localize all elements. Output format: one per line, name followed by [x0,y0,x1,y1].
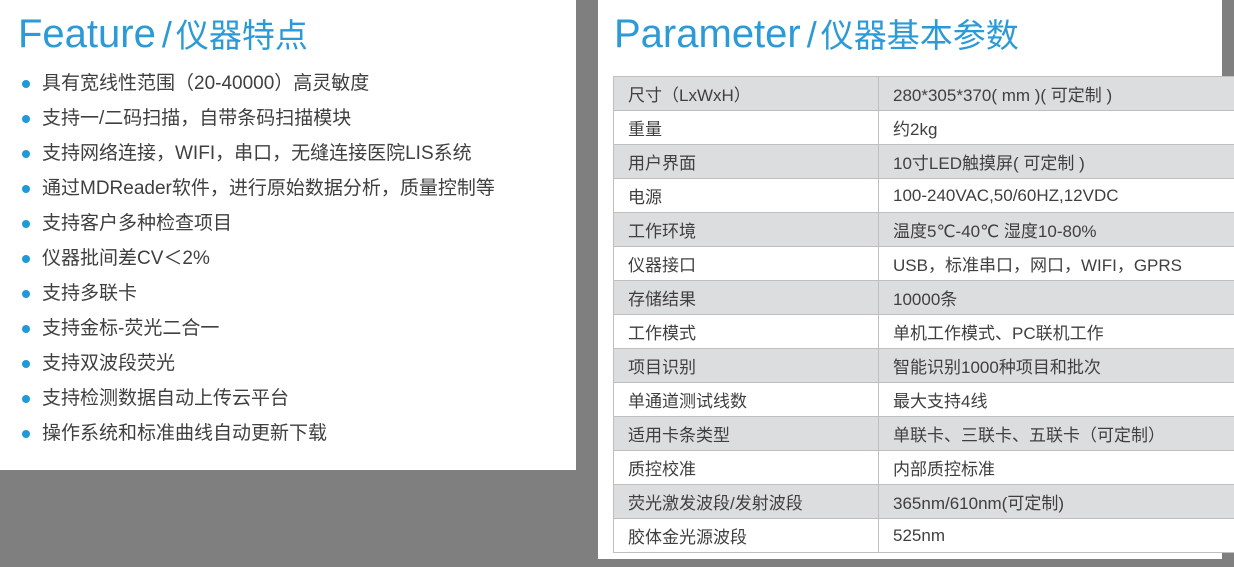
feature-list: 具有宽线性范围（20-40000）高灵敏度 支持一/二码扫描，自带条码扫描模块 … [0,66,576,451]
list-item: 支持一/二码扫描，自带条码扫描模块 [18,101,576,136]
spec-name: 工作模式 [614,315,879,349]
spec-name: 适用卡条类型 [614,417,879,451]
table-row: 电源 100-240VAC,50/60HZ,12VDC [614,179,1234,213]
feature-panel-title: Feature/仪器特点 [0,10,576,58]
spec-name: 质控校准 [614,451,879,485]
spec-name: 尺寸（LxWxH） [614,77,879,111]
spec-value: 100-240VAC,50/60HZ,12VDC [879,179,1234,213]
list-item: 仪器批间差CV＜2% [18,241,576,276]
spec-value: 智能识别1000种项目和批次 [879,349,1234,383]
bullet-icon [22,220,30,228]
bullet-icon [22,395,30,403]
feature-title-en: Feature [18,12,156,56]
spec-value: 365nm/610nm(可定制) [879,485,1234,519]
table-row: 项目识别 智能识别1000种项目和批次 [614,349,1234,383]
spec-name: 胶体金光源波段 [614,519,879,553]
list-item: 支持客户多种检查项目 [18,206,576,241]
parameter-panel: Parameter/仪器基本参数 尺寸（LxWxH） 280*305*370( … [598,0,1222,559]
table-row: 重量 约2kg [614,111,1234,145]
spec-name: 电源 [614,179,879,213]
spec-value: 10寸LED触摸屏( 可定制 ) [879,145,1234,179]
table-row: 存储结果 10000条 [614,281,1234,315]
specification-table: 尺寸（LxWxH） 280*305*370( mm )( 可定制 ) 重量 约2… [613,76,1234,553]
spec-value: USB，标准串口，网口，WIFI，GPRS [879,247,1234,281]
feature-item-text: 通过MDReader软件，进行原始数据分析，质量控制等 [42,178,495,199]
bullet-icon [22,430,30,438]
table-row: 工作模式 单机工作模式、PC联机工作 [614,315,1234,349]
table-row: 用户界面 10寸LED触摸屏( 可定制 ) [614,145,1234,179]
feature-item-text: 支持一/二码扫描，自带条码扫描模块 [42,108,351,129]
feature-item-text: 操作系统和标准曲线自动更新下载 [42,423,327,444]
spec-value: 约2kg [879,111,1234,145]
feature-panel: Feature/仪器特点 具有宽线性范围（20-40000）高灵敏度 支持一/二… [0,0,576,470]
spec-name: 单通道测试线数 [614,383,879,417]
list-item: 操作系统和标准曲线自动更新下载 [18,416,576,451]
spec-value: 单机工作模式、PC联机工作 [879,315,1234,349]
spec-value: 280*305*370( mm )( 可定制 ) [879,77,1234,111]
table-row: 质控校准 内部质控标准 [614,451,1234,485]
feature-item-text: 仪器批间差CV＜2% [42,248,210,269]
parameter-panel-title: Parameter/仪器基本参数 [598,10,1222,58]
spec-value: 最大支持4线 [879,383,1234,417]
feature-item-text: 支持多联卡 [42,283,137,304]
list-item: 支持检测数据自动上传云平台 [18,381,576,416]
table-row: 仪器接口 USB，标准串口，网口，WIFI，GPRS [614,247,1234,281]
feature-item-text: 支持金标-荧光二合一 [42,318,219,339]
spec-name: 用户界面 [614,145,879,179]
feature-item-text: 支持双波段荧光 [42,353,175,374]
list-item: 具有宽线性范围（20-40000）高灵敏度 [18,66,576,101]
parameter-title-separator: / [801,14,821,55]
bullet-icon [22,290,30,298]
feature-item-text: 具有宽线性范围（20-40000）高灵敏度 [42,73,369,94]
parameter-title-en: Parameter [614,12,801,56]
spec-name: 仪器接口 [614,247,879,281]
list-item: 支持多联卡 [18,276,576,311]
bullet-icon [22,150,30,158]
spec-value: 内部质控标准 [879,451,1234,485]
spec-value: 10000条 [879,281,1234,315]
table-row: 荧光激发波段/发射波段 365nm/610nm(可定制) [614,485,1234,519]
bullet-icon [22,325,30,333]
parameter-title-cn: 仪器基本参数 [821,17,1019,54]
spec-value: 525nm [879,519,1234,553]
spec-name: 工作环境 [614,213,879,247]
table-row: 工作环境 温度5℃-40℃ 湿度10-80% [614,213,1234,247]
spec-name: 存储结果 [614,281,879,315]
bullet-icon [22,255,30,263]
table-row: 适用卡条类型 单联卡、三联卡、五联卡（可定制） [614,417,1234,451]
list-item: 支持网络连接，WIFI，串口，无缝连接医院LIS系统 [18,136,576,171]
bullet-icon [22,185,30,193]
list-item: 通过MDReader软件，进行原始数据分析，质量控制等 [18,171,576,206]
spec-value: 单联卡、三联卡、五联卡（可定制） [879,417,1234,451]
list-item: 支持双波段荧光 [18,346,576,381]
spec-name: 项目识别 [614,349,879,383]
spec-name: 重量 [614,111,879,145]
table-row: 单通道测试线数 最大支持4线 [614,383,1234,417]
table-row: 尺寸（LxWxH） 280*305*370( mm )( 可定制 ) [614,77,1234,111]
spec-value: 温度5℃-40℃ 湿度10-80% [879,213,1234,247]
spec-name: 荧光激发波段/发射波段 [614,485,879,519]
bullet-icon [22,115,30,123]
bullet-icon [22,80,30,88]
table-row: 胶体金光源波段 525nm [614,519,1234,553]
feature-item-text: 支持网络连接，WIFI，串口，无缝连接医院LIS系统 [42,143,472,164]
feature-title-separator: / [156,14,176,55]
feature-title-cn: 仪器特点 [176,17,308,54]
feature-item-text: 支持客户多种检查项目 [42,213,232,234]
bullet-icon [22,360,30,368]
list-item: 支持金标-荧光二合一 [18,311,576,346]
feature-item-text: 支持检测数据自动上传云平台 [42,388,289,409]
